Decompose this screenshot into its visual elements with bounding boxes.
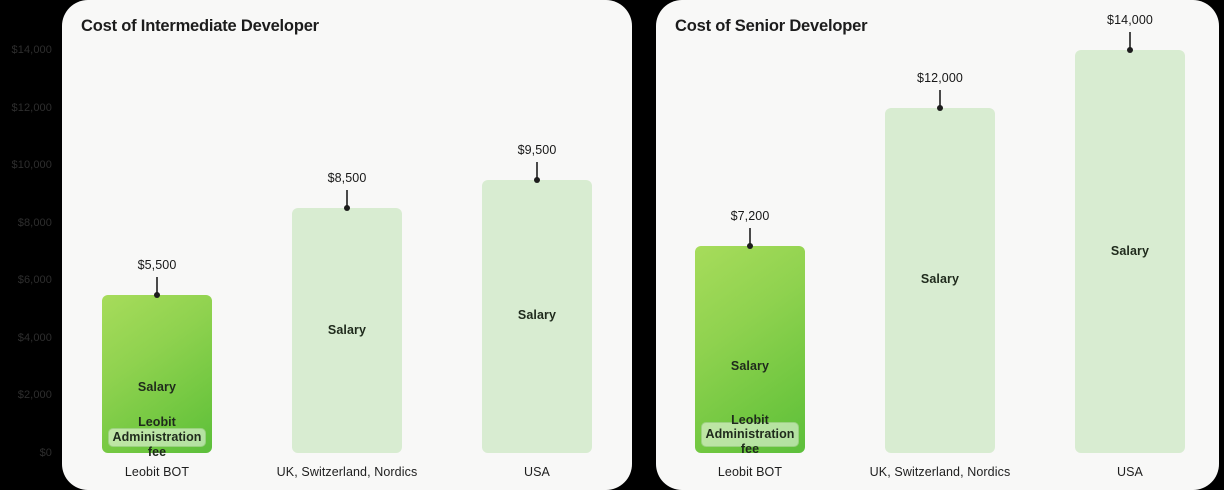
callout-stem (1129, 32, 1131, 49)
bar-leobit[interactable]: SalaryLeobit Administration fee (102, 295, 212, 453)
chart-panel-intermediate: Cost of Intermediate Developer SalaryLeo… (62, 0, 632, 490)
category-label: Leobit BOT (669, 465, 831, 479)
category-label: UK, Switzerland, Nordics (859, 465, 1021, 479)
callout-stem (939, 90, 941, 107)
category-label: Leobit BOT (76, 465, 238, 479)
value-label: $5,500 (138, 258, 177, 272)
bar-group[interactable]: SalaryLeobit Administration fee$5,500Leo… (102, 0, 212, 490)
y-axis-tick: $6,000 (18, 274, 52, 286)
plot-area-senior: SalaryLeobit Administration fee$7,200Leo… (656, 0, 1219, 490)
segment-label-salary: Salary (695, 359, 805, 373)
bar-market[interactable]: Salary (885, 108, 995, 453)
y-axis-tick: $14,000 (12, 44, 52, 56)
bar-group[interactable]: Salary$14,000USA (1075, 0, 1185, 490)
segment-label-salary: Salary (482, 308, 592, 322)
y-axis-tick: $0 (40, 447, 52, 459)
y-axis-tick: $10,000 (12, 159, 52, 171)
segment-label-admin-fee: Leobit Administration fee (108, 428, 206, 447)
value-callout: $7,200 (695, 209, 805, 249)
chart-page: $14,000$12,000$10,000$8,000$6,000$4,000$… (0, 0, 1224, 490)
value-callout: $8,500 (292, 171, 402, 211)
category-label: USA (456, 465, 618, 479)
chart-panel-senior: Cost of Senior Developer SalaryLeobit Ad… (656, 0, 1219, 490)
bar-leobit[interactable]: SalaryLeobit Administration fee (695, 246, 805, 453)
callout-stem (156, 277, 158, 294)
value-callout: $14,000 (1075, 13, 1185, 53)
y-axis-tick: $4,000 (18, 332, 52, 344)
segment-label-salary: Salary (102, 380, 212, 394)
bar-market[interactable]: Salary (1075, 50, 1185, 453)
segment-label-salary: Salary (292, 323, 402, 337)
segment-label-salary: Salary (885, 272, 995, 286)
plot-area-intermediate: SalaryLeobit Administration fee$5,500Leo… (62, 0, 632, 490)
category-label: USA (1049, 465, 1211, 479)
value-callout: $5,500 (102, 258, 212, 298)
bar-group[interactable]: SalaryLeobit Administration fee$7,200Leo… (695, 0, 805, 490)
bar-market[interactable]: Salary (292, 208, 402, 453)
callout-stem (346, 190, 348, 207)
y-axis-tick: $2,000 (18, 389, 52, 401)
value-label: $7,200 (731, 209, 770, 223)
category-label: UK, Switzerland, Nordics (266, 465, 428, 479)
bar-group[interactable]: Salary$8,500UK, Switzerland, Nordics (292, 0, 402, 490)
bar-group[interactable]: Salary$12,000UK, Switzerland, Nordics (885, 0, 995, 490)
value-label: $9,500 (518, 143, 557, 157)
callout-stem (536, 162, 538, 179)
value-label: $12,000 (917, 71, 963, 85)
value-label: $8,500 (328, 171, 367, 185)
value-callout: $12,000 (885, 71, 995, 111)
bar-market[interactable]: Salary (482, 180, 592, 453)
bar-group[interactable]: Salary$9,500USA (482, 0, 592, 490)
segment-label-salary: Salary (1075, 244, 1185, 258)
value-label: $14,000 (1107, 13, 1153, 27)
segment-label-admin-fee: Leobit Administration fee (701, 422, 799, 447)
y-axis-tick: $12,000 (12, 102, 52, 114)
y-axis: $14,000$12,000$10,000$8,000$6,000$4,000$… (0, 0, 56, 490)
y-axis-tick: $8,000 (18, 217, 52, 229)
value-callout: $9,500 (482, 143, 592, 183)
callout-stem (749, 228, 751, 245)
